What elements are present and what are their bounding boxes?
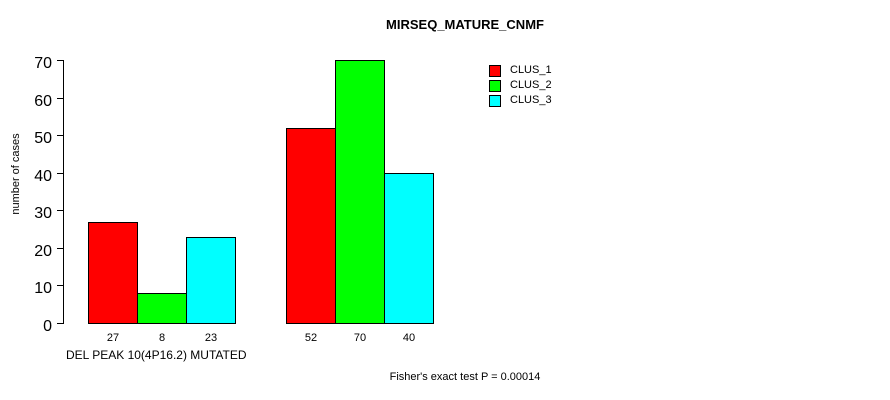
statistical-annotation: Fisher's exact test P = 0.00014 — [265, 371, 665, 383]
bar-chart: MIRSEQ_MATURE_CNMF 010203040506070 numbe… — [0, 0, 890, 400]
y-axis-tick — [57, 60, 63, 61]
bar-value-label: 27 — [88, 333, 138, 344]
bar-clus_3 — [384, 173, 434, 324]
group-baseline — [88, 323, 236, 324]
bar-clus_2 — [137, 293, 187, 324]
bar-clus_1 — [88, 222, 138, 324]
legend-label: CLUS_2 — [510, 80, 552, 91]
bar-value-label: 52 — [286, 333, 336, 344]
y-axis-tick — [57, 323, 63, 324]
y-axis-tick-label: 20 — [30, 243, 52, 254]
legend: CLUS_1CLUS_2CLUS_3 — [489, 63, 552, 108]
bar-clus_1 — [286, 128, 336, 324]
x-axis-group-label: DEL PEAK 10(4P16.2) MUTATED — [66, 349, 247, 361]
legend-item-clus_1: CLUS_1 — [489, 63, 552, 78]
bar-value-label: 8 — [137, 333, 187, 344]
y-axis-tick-label: 60 — [30, 93, 52, 104]
group-baseline — [286, 323, 434, 324]
y-axis-tick-label: 0 — [30, 318, 52, 329]
legend-label: CLUS_1 — [510, 65, 552, 76]
y-axis-tick — [57, 285, 63, 286]
y-axis-tick-label: 30 — [30, 205, 52, 216]
legend-item-clus_3: CLUS_3 — [489, 93, 552, 108]
bar-value-label: 23 — [186, 333, 236, 344]
legend-swatch-icon — [489, 80, 501, 92]
y-axis-tick-label: 40 — [30, 168, 52, 179]
legend-swatch-icon — [489, 95, 501, 107]
y-axis-tick — [57, 135, 63, 136]
legend-label: CLUS_3 — [510, 95, 552, 106]
y-axis-tick — [57, 173, 63, 174]
legend-item-clus_2: CLUS_2 — [489, 78, 552, 93]
chart-title: MIRSEQ_MATURE_CNMF — [265, 17, 665, 32]
y-axis-tick-label: 50 — [30, 130, 52, 141]
legend-swatch-icon — [489, 65, 501, 77]
y-axis-title: number of cases — [10, 114, 22, 234]
y-axis-tick — [57, 98, 63, 99]
y-axis-tick — [57, 210, 63, 211]
y-axis-tick — [57, 248, 63, 249]
bar-value-label: 40 — [384, 333, 434, 344]
bar-clus_2 — [335, 60, 385, 324]
y-axis-tick-label: 10 — [30, 280, 52, 291]
bar-value-label: 70 — [335, 333, 385, 344]
y-axis-tick-label: 70 — [30, 55, 52, 66]
y-axis-line — [63, 60, 64, 324]
bar-clus_3 — [186, 237, 236, 324]
